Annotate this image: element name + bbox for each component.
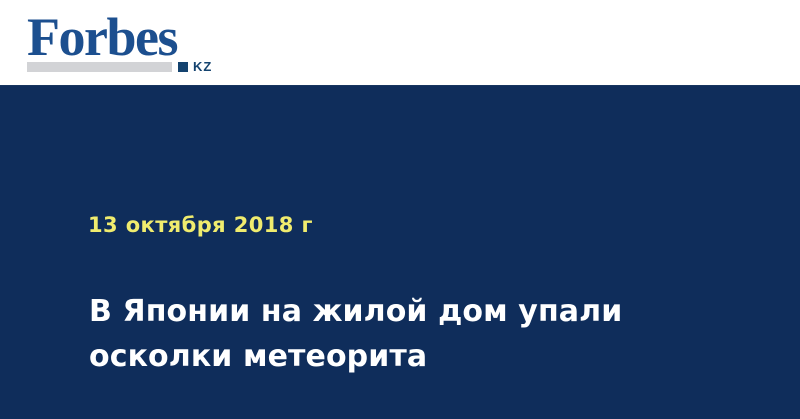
article-title: В Японии на жилой дом упали осколки мете… xyxy=(89,289,709,379)
article-title-line: осколки метеорита xyxy=(89,334,709,379)
article-hero-banner: 13 октября 2018 г В Японии на жилой дом … xyxy=(0,87,800,419)
logo-country-suffix: KZ xyxy=(193,60,212,73)
logo-rule-decoration xyxy=(27,62,172,72)
article-hero-page: Forbes KZ 13 октября 2018 г В Японии на … xyxy=(0,0,800,419)
forbes-kz-logo[interactable]: Forbes KZ xyxy=(27,14,222,74)
logo-wordmark: Forbes xyxy=(27,10,177,64)
article-title-line: В Японии на жилой дом упали xyxy=(89,289,709,334)
article-date: 13 октября 2018 г xyxy=(88,215,313,236)
site-header: Forbes KZ xyxy=(0,0,800,86)
logo-square-icon xyxy=(178,62,188,72)
